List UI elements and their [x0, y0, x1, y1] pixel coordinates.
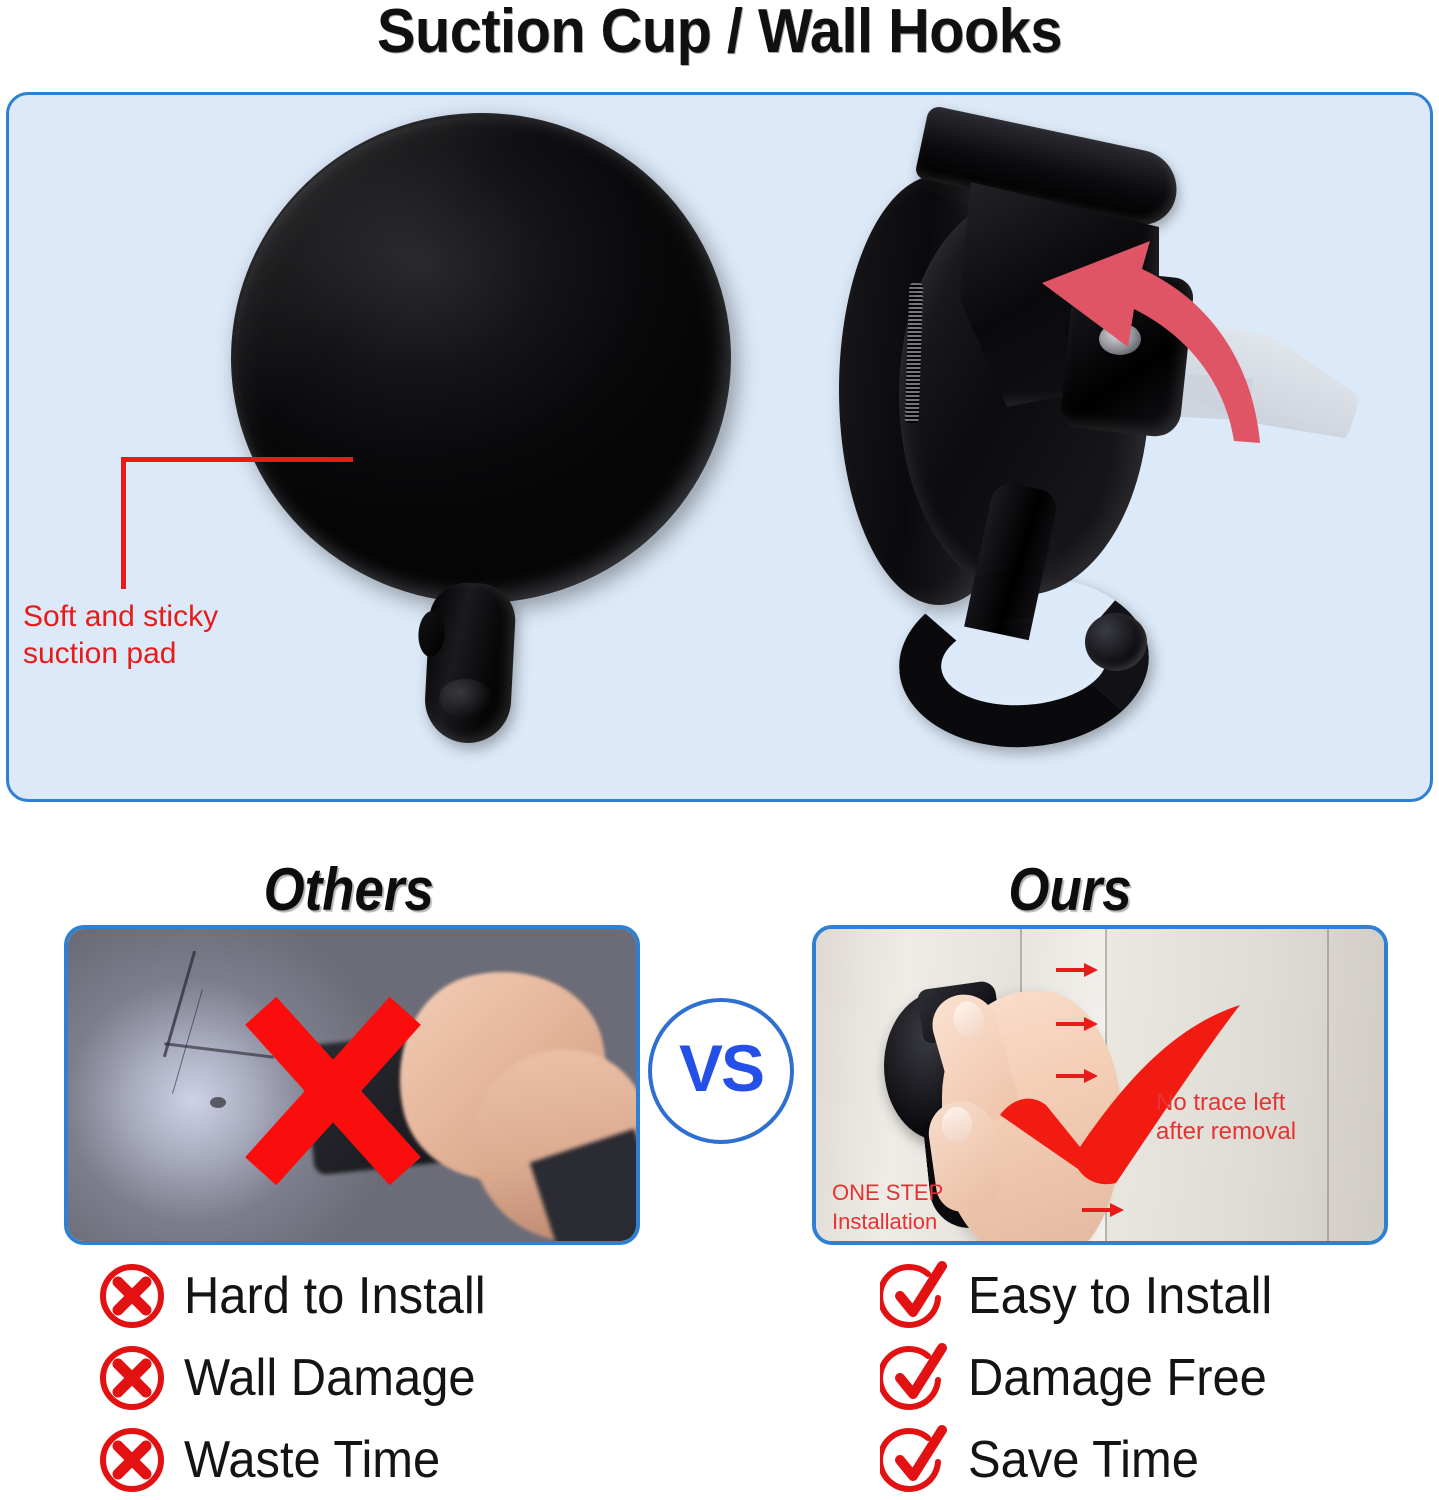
circle-x-icon — [96, 1424, 168, 1496]
red-x-overlay — [216, 991, 446, 1191]
suction-pad-disc — [223, 104, 740, 611]
leader-vertical — [121, 457, 126, 589]
one-step-note-line-2: Installation — [832, 1208, 992, 1237]
no-trace-note-line-2: after removal — [1156, 1118, 1346, 1147]
hook-tip — [1085, 613, 1147, 671]
one-step-note: ONE STEP Installation — [832, 1179, 992, 1236]
list-item: Easy to Install — [880, 1255, 1292, 1337]
wall-crack — [163, 951, 196, 1058]
ours-photo: No trace left after removal ONE STEP Ins… — [812, 925, 1388, 1245]
list-item: Wall Damage — [96, 1337, 505, 1419]
list-item: Save Time — [880, 1419, 1292, 1500]
ours-heading: Ours — [1008, 855, 1131, 924]
fingernail-2 — [942, 1107, 972, 1143]
hook-stub-nub — [417, 610, 445, 657]
others-photo — [64, 925, 640, 1245]
leader-horizontal — [121, 457, 353, 462]
no-trace-note: No trace left after removal — [1156, 1089, 1346, 1147]
list-item-label: Save Time — [968, 1430, 1199, 1490]
ours-feature-list: Easy to Install Damage Free Save Time — [880, 1255, 1292, 1500]
motion-arrow-1 — [1056, 963, 1102, 977]
list-item-label: Wall Damage — [184, 1348, 476, 1408]
page-title: Suction Cup / Wall Hooks — [50, 0, 1388, 67]
others-heading: Others — [264, 855, 434, 924]
no-trace-note-line-1: No trace left — [1156, 1089, 1346, 1118]
wall-plank-4 — [1328, 929, 1388, 1241]
circle-x-icon — [96, 1342, 168, 1414]
callout-label: Soft and sticky suction pad — [23, 599, 283, 672]
list-item-label: Hard to Install — [184, 1266, 486, 1326]
product-front-view — [231, 113, 751, 793]
list-item: Waste Time — [96, 1419, 505, 1500]
list-item: Damage Free — [880, 1337, 1292, 1419]
vs-label: VS — [679, 1030, 763, 1106]
product-side-view — [799, 115, 1339, 785]
hook-stub — [423, 581, 517, 745]
hero-panel: Soft and sticky suction pad — [6, 92, 1433, 802]
list-item-label: Easy to Install — [968, 1266, 1272, 1326]
motion-arrow-5 — [1082, 1203, 1128, 1217]
one-step-note-line-1: ONE STEP — [832, 1179, 992, 1208]
hook — [895, 485, 1185, 755]
circle-x-icon — [96, 1260, 168, 1332]
circle-check-icon — [880, 1424, 952, 1496]
circle-check-icon — [880, 1260, 952, 1332]
wall-seam-3 — [1327, 929, 1329, 1241]
curved-arrow-icon — [1024, 225, 1274, 445]
vs-badge: VS — [648, 998, 794, 1144]
callout-line-1: Soft and sticky — [23, 599, 283, 636]
list-item: Hard to Install — [96, 1255, 505, 1337]
list-item-label: Waste Time — [184, 1430, 440, 1490]
circle-check-icon — [880, 1342, 952, 1414]
ours-photo-image: No trace left after removal ONE STEP Ins… — [816, 929, 1384, 1241]
list-item-label: Damage Free — [968, 1348, 1267, 1408]
others-feature-list: Hard to Install Wall Damage Waste Time — [96, 1255, 505, 1500]
callout-line-2: suction pad — [23, 636, 283, 673]
infographic-page: Suction Cup / Wall Hooks Soft and sticky… — [0, 0, 1439, 1500]
